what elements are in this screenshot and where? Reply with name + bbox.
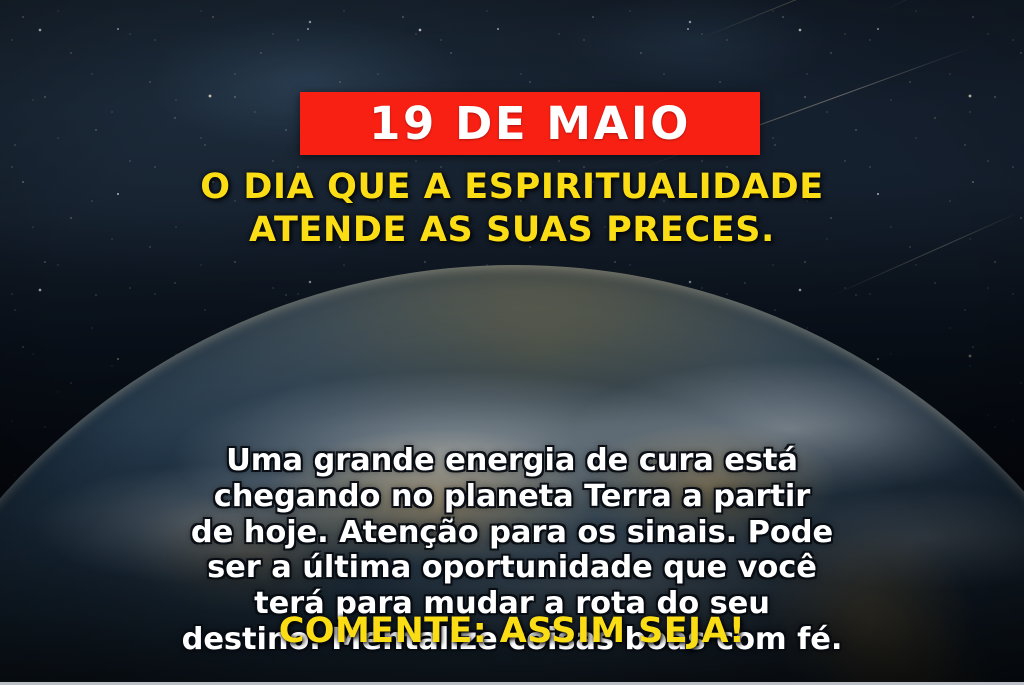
poster-canvas: 19 DE MAIO O DIA QUE A ESPIRITUALIDADE A…: [0, 0, 1024, 685]
headline: O DIA QUE A ESPIRITUALIDADE ATENDE AS SU…: [0, 166, 1024, 252]
body-line-3: de hoje. Atenção para os sinais. Pode: [59, 515, 965, 551]
headline-line-1: O DIA QUE A ESPIRITUALIDADE: [24, 166, 1000, 209]
poster-content: 19 DE MAIO O DIA QUE A ESPIRITUALIDADE A…: [0, 0, 1024, 685]
body-line-2: chegando no planeta Terra a partir: [59, 479, 965, 515]
date-banner: 19 DE MAIO: [300, 92, 760, 155]
body-line-4: ser a última oportunidade que você: [59, 550, 965, 586]
body-line-1: Uma grande energia de cura está: [59, 443, 965, 479]
call-to-action-text: COMENTE: ASSIM SEJA!: [0, 612, 1024, 651]
date-banner-label: 19 DE MAIO: [369, 101, 691, 146]
headline-line-2: ATENDE AS SUAS PRECES.: [24, 209, 1000, 252]
